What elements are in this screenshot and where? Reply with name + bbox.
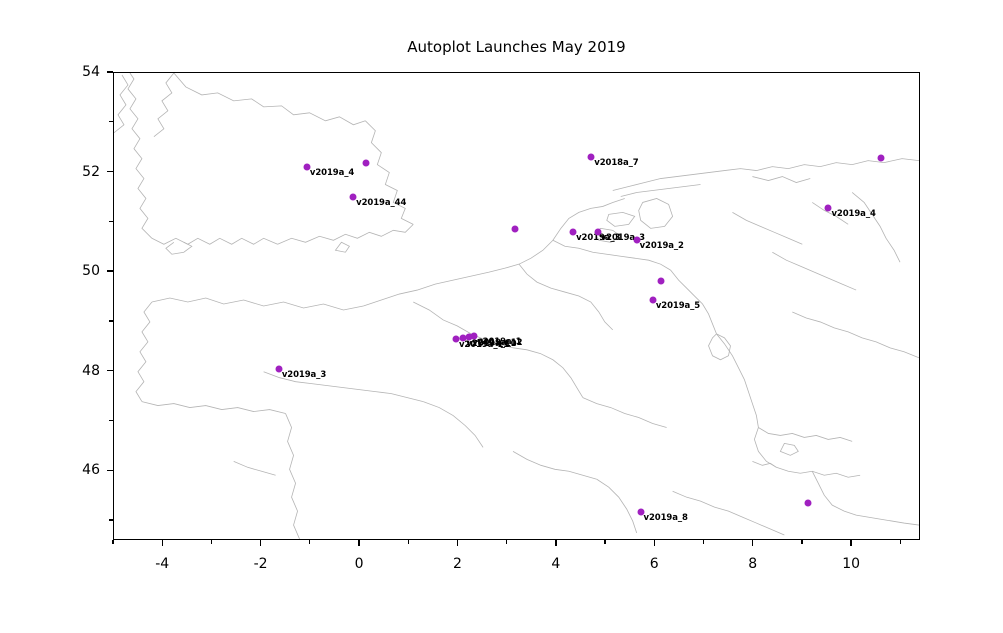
data-point-label: v2019a_2	[640, 241, 684, 251]
x-axis-tick-label: 6	[650, 556, 659, 572]
y-axis-minor-tick	[109, 420, 113, 421]
data-point[interactable]	[658, 278, 665, 285]
data-point[interactable]	[512, 226, 519, 233]
y-axis-minor-tick	[109, 221, 113, 222]
data-point[interactable]	[877, 155, 884, 162]
y-axis-major-tick	[107, 470, 113, 471]
x-axis-major-tick	[358, 540, 359, 546]
y-axis-major-tick	[107, 171, 113, 172]
x-axis-tick-label: -4	[155, 556, 169, 572]
x-axis-major-tick	[850, 540, 851, 546]
y-axis-major-tick	[107, 370, 113, 371]
page-title: Autoplot Launches May 2019	[113, 38, 920, 56]
scatter-points-layer: v2019a_4v2019a_44v2018a_7v2019a_4v2019a_…	[114, 73, 919, 539]
x-axis-tick-label: 0	[355, 556, 364, 572]
x-axis-minor-tick	[604, 540, 605, 544]
x-axis-major-tick	[654, 540, 655, 546]
data-point-label: v2019a_3	[282, 370, 326, 380]
y-axis-tick-label: 48	[62, 363, 100, 379]
y-axis-tick-label: 54	[62, 64, 100, 80]
x-axis-major-tick	[162, 540, 163, 546]
x-axis-minor-tick	[0, 93, 1, 97]
data-point-label: v2019a_5	[656, 301, 700, 311]
data-point-label: v2018a_7	[594, 158, 638, 168]
x-axis-minor-tick	[506, 540, 507, 544]
data-point-label: v2019a_44	[356, 198, 406, 208]
x-axis-minor-tick	[309, 540, 310, 544]
x-axis-tick-label: 4	[551, 556, 560, 572]
data-point[interactable]	[804, 499, 811, 506]
data-point-label: v2019a_4	[310, 168, 354, 178]
y-axis-tick-label: 52	[62, 164, 100, 180]
data-point-label: v2019a_8	[644, 513, 688, 523]
x-axis-major-tick	[260, 540, 261, 546]
x-axis-minor-tick	[408, 540, 409, 544]
y-axis-minor-tick	[109, 320, 113, 321]
data-point-label: v2019a_4	[831, 209, 875, 219]
y-axis-tick-label: 46	[62, 462, 100, 478]
x-axis-minor-tick	[801, 540, 802, 544]
y-axis-minor-tick	[109, 519, 113, 520]
x-axis-tick-label: 10	[842, 556, 860, 572]
x-axis-tick-label: 8	[748, 556, 757, 572]
x-axis-minor-tick	[703, 540, 704, 544]
x-axis-major-tick	[752, 540, 753, 546]
x-axis-major-tick	[457, 540, 458, 546]
data-point-label: v2019a_11	[459, 340, 509, 350]
data-point[interactable]	[362, 159, 369, 166]
y-axis-tick-label: 50	[62, 263, 100, 279]
figure-canvas: Autoplot Launches May 2019	[0, 0, 1003, 633]
y-axis-minor-tick	[109, 121, 113, 122]
plot-area[interactable]: v2019a_4v2019a_44v2018a_7v2019a_4v2019a_…	[113, 72, 920, 540]
x-axis-tick-label: -2	[254, 556, 268, 572]
y-axis-major-tick	[107, 270, 113, 271]
y-axis-major-tick	[107, 71, 113, 72]
x-axis-minor-tick	[211, 540, 212, 544]
x-axis-minor-tick	[900, 540, 901, 544]
x-axis-tick-label: 2	[453, 556, 462, 572]
x-axis-major-tick	[555, 540, 556, 546]
x-axis-minor-tick	[112, 540, 113, 544]
